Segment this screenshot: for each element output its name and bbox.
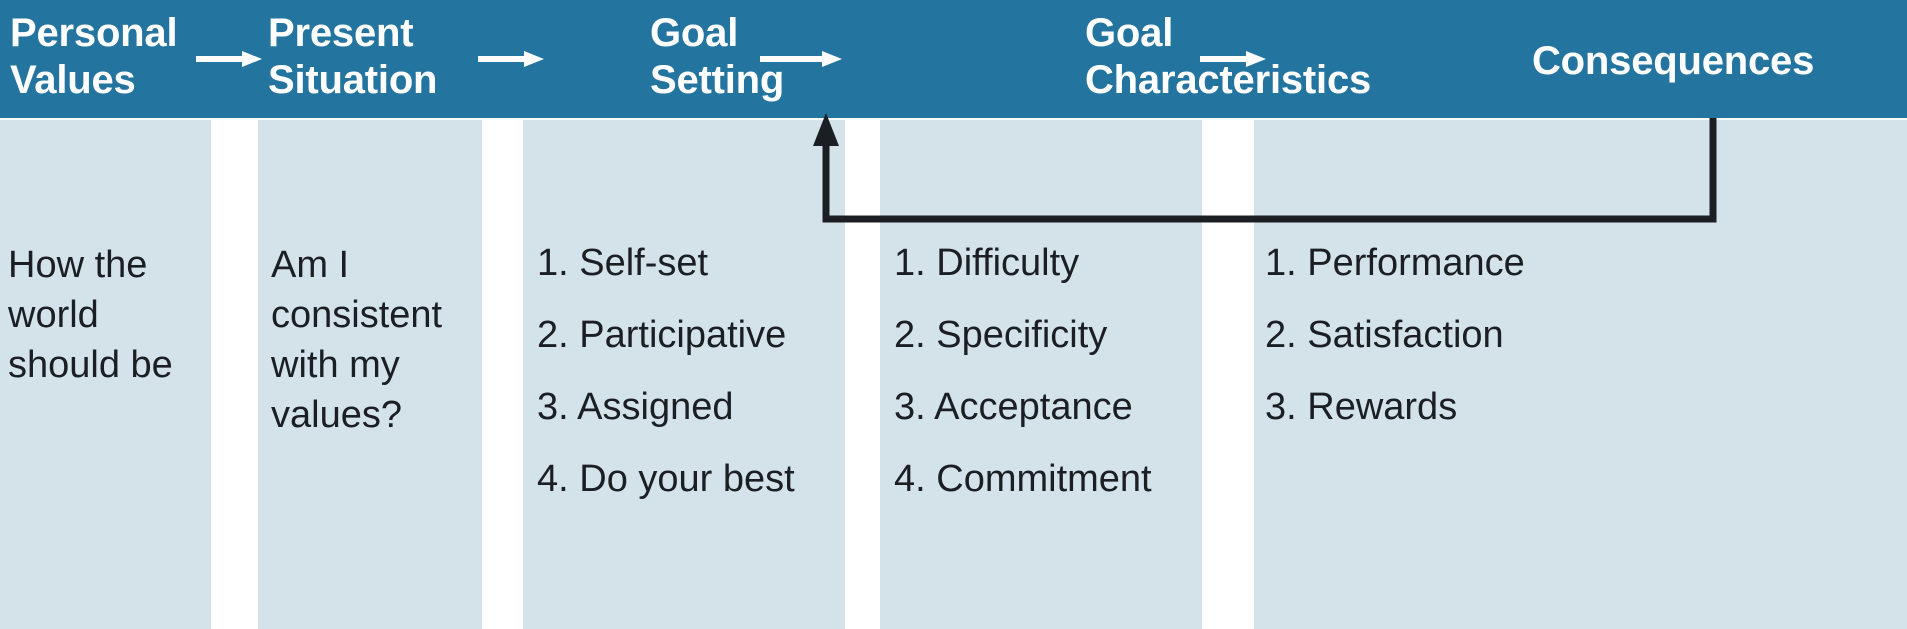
- stage-body-goal-characteristics: 1. Difficulty 2. Specificity 3. Acceptan…: [894, 238, 1198, 504]
- stage-header-consequences: Consequences: [1532, 38, 1907, 85]
- list-item: 3. Acceptance: [894, 382, 1198, 432]
- list-item: 2. Specificity: [894, 310, 1198, 360]
- stage-column-personal-values: How the world should be: [0, 120, 211, 629]
- stage-column-goal-setting: 1. Self-set 2. Participative 3. Assigned…: [523, 120, 845, 629]
- stage-body-personal-values: How the world should be: [8, 240, 205, 390]
- stage-body-present-situation: Am I consistent with my values?: [271, 240, 476, 440]
- stage-header-goal-characteristics: Goal Characteristics: [1085, 10, 1465, 104]
- arrow-goalsetting-to-characteristics-icon: [760, 50, 842, 68]
- stage-column-goal-characteristics: 1. Difficulty 2. Specificity 3. Acceptan…: [880, 120, 1202, 629]
- list-item: 1. Self-set: [537, 238, 841, 288]
- arrow-situation-to-goalsetting-icon: [478, 50, 544, 68]
- list-item: 3. Rewards: [1265, 382, 1903, 432]
- arrow-values-to-situation-icon: [196, 50, 262, 68]
- list-item: 3. Assigned: [537, 382, 841, 432]
- list-item: 2. Satisfaction: [1265, 310, 1903, 360]
- list-item: 1. Performance: [1265, 238, 1903, 288]
- stage-column-present-situation: Am I consistent with my values?: [258, 120, 482, 629]
- list-item: 1. Difficulty: [894, 238, 1198, 288]
- arrow-characteristics-to-consequences-icon: [1200, 50, 1266, 68]
- stage-body-goal-setting: 1. Self-set 2. Participative 3. Assigned…: [537, 238, 841, 504]
- diagram-canvas: Personal Values Present Situation Goal S…: [0, 0, 1907, 629]
- list-item: 4. Commitment: [894, 454, 1198, 504]
- list-item: 2. Participative: [537, 310, 841, 360]
- stage-body-consequences: 1. Performance 2. Satisfaction 3. Reward…: [1265, 238, 1903, 432]
- stage-column-consequences: 1. Performance 2. Satisfaction 3. Reward…: [1254, 120, 1907, 629]
- list-item: 4. Do your best: [537, 454, 841, 504]
